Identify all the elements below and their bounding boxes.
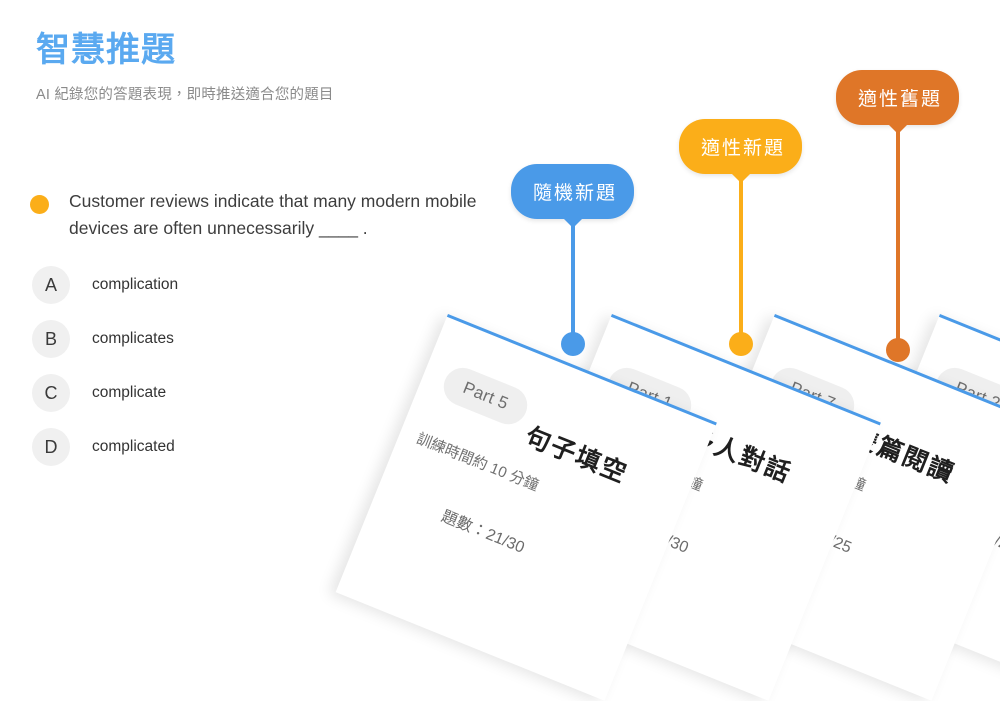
option-badge-c: C bbox=[32, 374, 70, 412]
option-badge-b: B bbox=[32, 320, 70, 358]
answer-option-a[interactable]: A complication bbox=[32, 258, 462, 312]
pin-dot-random-new bbox=[561, 332, 585, 356]
pin-marker-adaptive-new[interactable]: 適性新題 bbox=[679, 119, 802, 174]
practice-card-1-duration: 訓練時間約 10 分鐘 bbox=[414, 427, 542, 495]
pin-bubble-adaptive-new: 適性新題 bbox=[679, 119, 802, 174]
pin-stem-adaptive-new bbox=[739, 171, 743, 336]
pin-bubble-random-new: 隨機新題 bbox=[511, 164, 634, 219]
question-row: Customer reviews indicate that many mode… bbox=[30, 188, 500, 242]
pin-stem-adaptive-old bbox=[896, 122, 900, 342]
page-header: 智慧推題 AI 紀錄您的答題表現，即時推送適合您的題目 bbox=[36, 30, 556, 104]
bullet-dot-icon bbox=[30, 195, 49, 214]
answer-option-c[interactable]: C complicate bbox=[32, 366, 462, 420]
page-subtitle: AI 紀錄您的答題表現，即時推送適合您的題目 bbox=[36, 83, 556, 104]
pin-marker-adaptive-old[interactable]: 適性舊題 bbox=[836, 70, 959, 125]
answer-option-b[interactable]: B complicates bbox=[32, 312, 462, 366]
practice-card-1-count: 題數：21/30 bbox=[438, 502, 529, 557]
option-badge-a: A bbox=[32, 266, 70, 304]
option-label-b: complicates bbox=[92, 330, 174, 348]
option-label-d: complicated bbox=[92, 438, 175, 456]
practice-card-1-part: Part 5 bbox=[438, 362, 533, 430]
pin-dot-adaptive-new bbox=[729, 332, 753, 356]
pin-bubble-adaptive-old: 適性舊題 bbox=[836, 70, 959, 125]
option-label-c: complicate bbox=[92, 384, 166, 402]
option-badge-d: D bbox=[32, 428, 70, 466]
question-text: Customer reviews indicate that many mode… bbox=[69, 188, 500, 242]
practice-card-deck: Part 2 應答問題 訓練時間約 10 分鐘 題數：20/25 Part 7 … bbox=[430, 300, 1000, 600]
page-title: 智慧推題 bbox=[36, 30, 556, 71]
question-block: Customer reviews indicate that many mode… bbox=[30, 188, 500, 242]
pin-marker-random-new[interactable]: 隨機新題 bbox=[511, 164, 634, 219]
option-label-a: complication bbox=[92, 276, 178, 294]
pin-stem-random-new bbox=[571, 216, 575, 336]
pin-dot-adaptive-old bbox=[886, 338, 910, 362]
